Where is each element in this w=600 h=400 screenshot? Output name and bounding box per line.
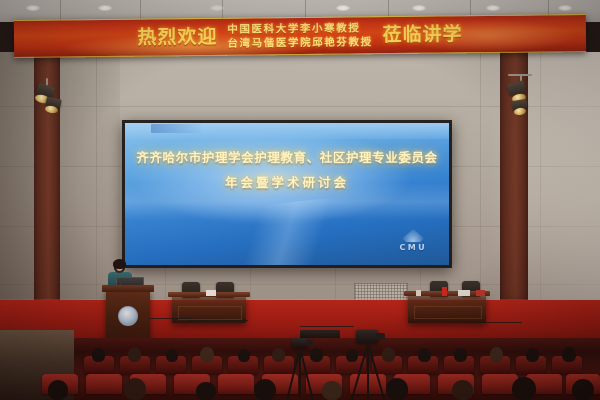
banner-center-block: 中国医科大学李小寒教授 台湾马偕医学院邱艳芬教授 (227, 22, 372, 49)
shield-icon (402, 229, 424, 242)
conference-hall-photo: 齐齐哈尔市护理学会护理教育、社区护理专业委员会 年会暨学术研讨会 CMU 热烈欢… (0, 0, 600, 400)
audience-head (254, 379, 276, 400)
audience-seat (218, 374, 254, 394)
audience-head (322, 381, 342, 400)
projection-screen: 齐齐哈尔市护理学会护理教育、社区护理专业委员会 年会暨学术研讨会 CMU (125, 123, 449, 265)
stage-light-right-2 (506, 98, 536, 124)
cmu-logo: CMU (399, 229, 427, 252)
ceiling-downlight-icon (486, 5, 500, 11)
ceiling-downlight-icon (558, 5, 572, 11)
lectern (106, 290, 150, 342)
screen-decor-chip (151, 124, 201, 133)
slide-title-line1: 齐齐哈尔市护理学会护理教育、社区护理专业委员会 (125, 147, 449, 166)
banner-left-text: 热烈欢迎 (137, 27, 217, 47)
audience-head (418, 348, 431, 362)
audience-head (490, 347, 503, 362)
ceiling-downlight-icon (26, 5, 40, 11)
camera-tripod-left (286, 338, 314, 400)
audience-head (272, 348, 285, 362)
ceiling-downlight-icon (98, 5, 112, 11)
stage-light-left-2 (44, 96, 74, 122)
audience-head (124, 378, 146, 400)
table-nameplate (206, 290, 216, 296)
camera-tripod-right (352, 330, 386, 400)
audience-head (512, 377, 536, 400)
audience-head (166, 349, 178, 362)
audience-head (238, 349, 250, 362)
audience-head (572, 379, 594, 400)
welcome-banner: 热烈欢迎 中国医科大学李小寒教授 台湾马偕医学院邱艳芬教授 莅临讲学 (14, 14, 586, 58)
audience-head (200, 347, 214, 362)
audience-head (128, 347, 141, 362)
slide-title-block: 齐齐哈尔市护理学会护理教育、社区护理专业委员会 年会暨学术研讨会 (125, 147, 449, 191)
audience-head (454, 348, 467, 362)
ceiling-downlight-icon (336, 5, 350, 11)
head-table-right (408, 295, 486, 323)
audience-head (452, 380, 473, 400)
banner-right-text: 莅临讲学 (382, 25, 462, 45)
audience-head (526, 348, 539, 362)
audience-seat (86, 374, 122, 394)
table-flower (442, 287, 447, 296)
table-nameplate (458, 290, 470, 296)
slide-title-line2: 年会暨学术研讨会 (125, 172, 449, 191)
audience-head (562, 347, 576, 362)
audience-head (92, 348, 105, 362)
ceiling-downlight-icon (412, 5, 426, 11)
projection-screen-frame: 齐齐哈尔市护理学会护理教育、社区护理专业委员会 年会暨学术研讨会 CMU (122, 120, 452, 268)
ceiling-downlight-icon (210, 5, 224, 11)
table-cup (416, 290, 421, 296)
presenter-hair (113, 259, 126, 269)
audience-head (48, 380, 68, 400)
audience-head (386, 378, 408, 400)
cmu-logo-text: CMU (399, 243, 427, 252)
institution-emblem-icon (118, 306, 138, 326)
banner-center-line1: 中国医科大学李小寒教授 (227, 22, 372, 36)
audience-head (196, 382, 216, 400)
table-nameplate (476, 290, 485, 296)
banner-center-line2: 台湾马偕医学院邱艳芬教授 (227, 36, 372, 50)
